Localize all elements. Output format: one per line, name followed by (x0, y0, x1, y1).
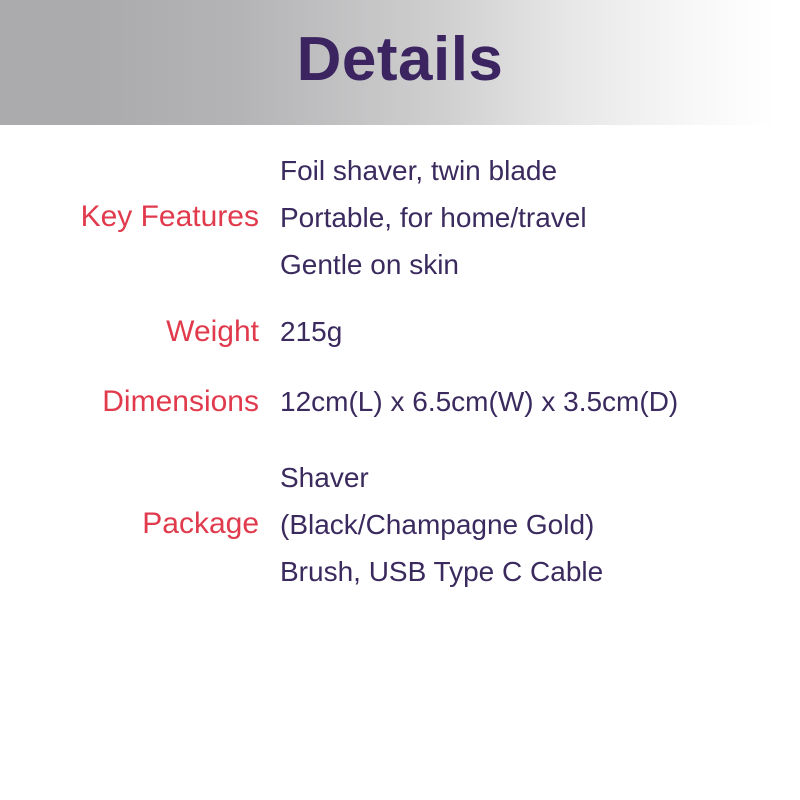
spec-row-package: Package Shaver (Black/Champagne Gold) Br… (0, 454, 800, 595)
spec-label-weight: Weight (0, 315, 259, 350)
spec-row-dimensions: Dimensions 12cm(L) x 6.5cm(W) x 3.5cm(D) (0, 380, 800, 424)
spec-value-line: 215g (280, 310, 800, 354)
spec-value-cell: 215g (265, 310, 800, 354)
page-title: Details (297, 29, 504, 91)
spec-value-line: Gentle on skin (280, 241, 800, 288)
spec-label-key-features: Key Features (0, 200, 259, 235)
product-details-page: Details Key Features Foil shaver, twin b… (0, 0, 800, 800)
spec-row-weight: Weight 215g (0, 310, 800, 354)
spec-label-cell: Weight (0, 315, 265, 350)
spec-value-line: Shaver (280, 454, 800, 501)
spec-label-cell: Dimensions (0, 385, 265, 420)
spec-value-line: (Black/Champagne Gold) (280, 501, 800, 548)
spec-value-line: Foil shaver, twin blade (280, 147, 800, 194)
page-header-banner: Details (0, 0, 800, 125)
spec-label-cell: Package (0, 507, 265, 542)
spec-value-cell: 12cm(L) x 6.5cm(W) x 3.5cm(D) (265, 380, 800, 424)
spec-label-package: Package (0, 507, 259, 542)
spec-value-cell: Shaver (Black/Champagne Gold) Brush, USB… (265, 454, 800, 595)
spec-value-line: Brush, USB Type C Cable (280, 548, 800, 595)
spec-row-key-features: Key Features Foil shaver, twin blade Por… (0, 147, 800, 288)
spec-label-cell: Key Features (0, 200, 265, 235)
specifications-table: Key Features Foil shaver, twin blade Por… (0, 125, 800, 595)
spec-label-dimensions: Dimensions (0, 385, 259, 420)
spec-value-line: Portable, for home/travel (280, 194, 800, 241)
spec-value-line: 12cm(L) x 6.5cm(W) x 3.5cm(D) (280, 380, 800, 424)
spec-value-cell: Foil shaver, twin blade Portable, for ho… (265, 147, 800, 288)
